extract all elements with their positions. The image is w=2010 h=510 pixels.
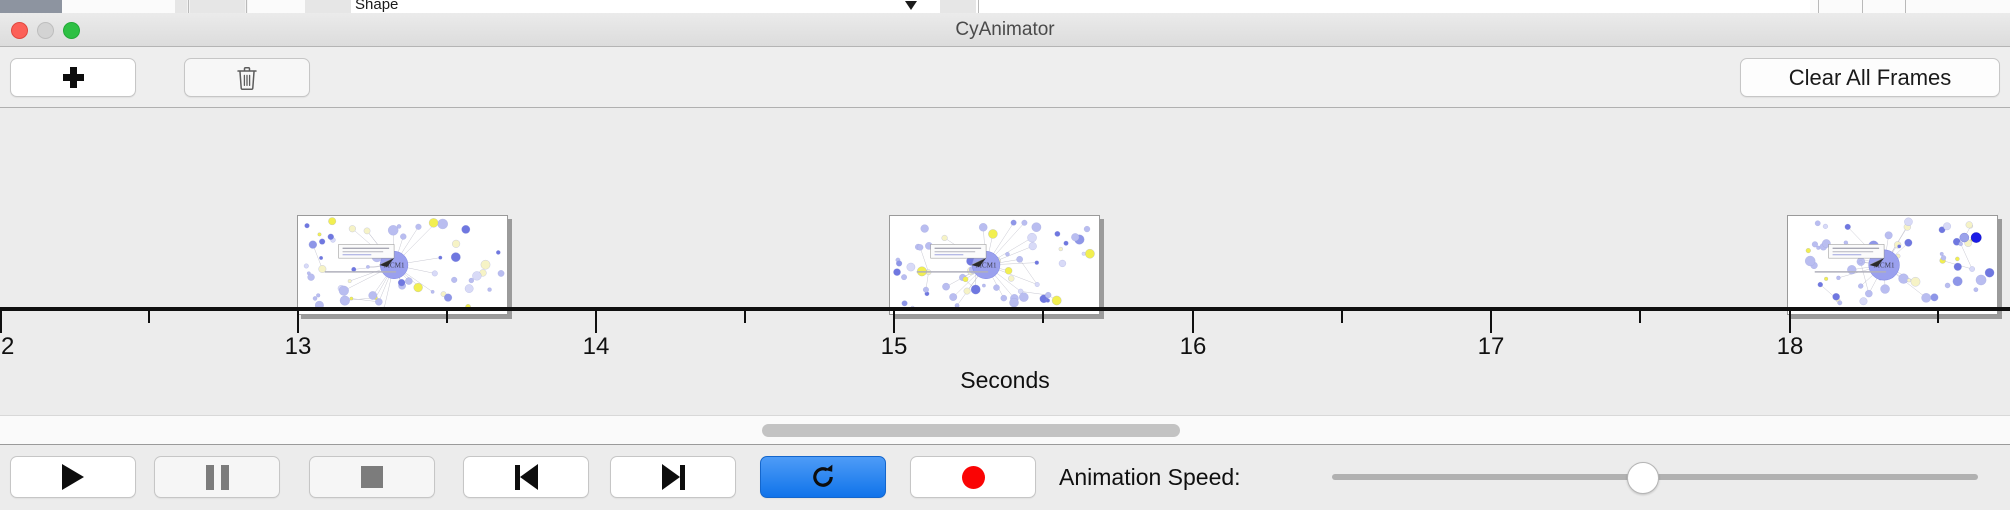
frame-thumbnail[interactable]: MCM1 [297,215,508,315]
skip-end-icon [662,464,685,490]
skip-start-button[interactable] [463,456,589,498]
axis-tick-minor [1341,311,1343,323]
timeline-axis: 12131415161718 Seconds [0,307,2010,415]
axis-title: Seconds [0,367,2010,394]
axis-tick-minor [1042,311,1044,323]
axis-tick-minor [446,311,448,323]
timeline-scrollbar-track[interactable] [0,415,2010,445]
axis-tick-major [297,311,299,333]
axis-tick-minor [1639,311,1641,323]
axis-tick-minor [148,311,150,323]
animation-speed-slider-knob[interactable] [1627,462,1659,494]
frame-toolbar: Clear All Frames [0,47,2010,108]
add-frame-button[interactable] [10,58,136,97]
axis-tick-label: 15 [881,333,908,361]
play-icon [62,464,84,490]
record-icon [962,466,985,489]
axis-tick-major [595,311,597,333]
background-shape-label: Shape [355,0,398,13]
plus-icon [63,67,84,88]
axis-tick-minor [744,311,746,323]
axis-tick-label: 13 [285,333,312,361]
axis-tick-label: 18 [1777,333,1804,361]
timeline-panel[interactable]: MCM1MCM1MCM1 12131415161718 Seconds [0,108,2010,415]
title-bar: CyAnimator [0,13,2010,47]
cyanimator-window: Shape CyAnimator Clear All Frames [0,0,2010,510]
axis-tick-label: 12 [0,333,14,361]
axis-tick-major [0,311,2,333]
play-button[interactable] [10,456,136,498]
animation-speed-label: Animation Speed: [1059,456,1241,498]
axis-tick-label: 16 [1180,333,1207,361]
clear-all-frames-button[interactable]: Clear All Frames [1740,58,2000,97]
loop-icon [809,463,837,491]
axis-tick-major [1789,311,1791,333]
pause-button[interactable] [154,456,280,498]
axis-tick-label: 14 [583,333,610,361]
trash-icon [236,66,258,90]
frame-thumbnail[interactable]: MCM1 [1787,215,1998,315]
skip-end-button[interactable] [610,456,736,498]
timeline-scrollbar-thumb[interactable] [762,424,1180,437]
axis-tick-major [1490,311,1492,333]
axis-tick-major [893,311,895,333]
delete-frame-button[interactable] [184,58,310,97]
axis-line [0,307,2010,311]
axis-tick-minor [1937,311,1939,323]
window-title: CyAnimator [0,13,2010,47]
background-window-strip: Shape [0,0,2010,13]
axis-tick-label: 17 [1478,333,1505,361]
skip-start-icon [515,464,538,490]
stop-icon [361,466,383,488]
pause-icon [206,465,229,490]
record-button[interactable] [910,456,1036,498]
axis-tick-major [1192,311,1194,333]
loop-button[interactable] [760,456,886,498]
frame-thumbnail[interactable]: MCM1 [889,215,1100,315]
playback-control-bar: Animation Speed: [0,446,2010,510]
stop-button[interactable] [309,456,435,498]
